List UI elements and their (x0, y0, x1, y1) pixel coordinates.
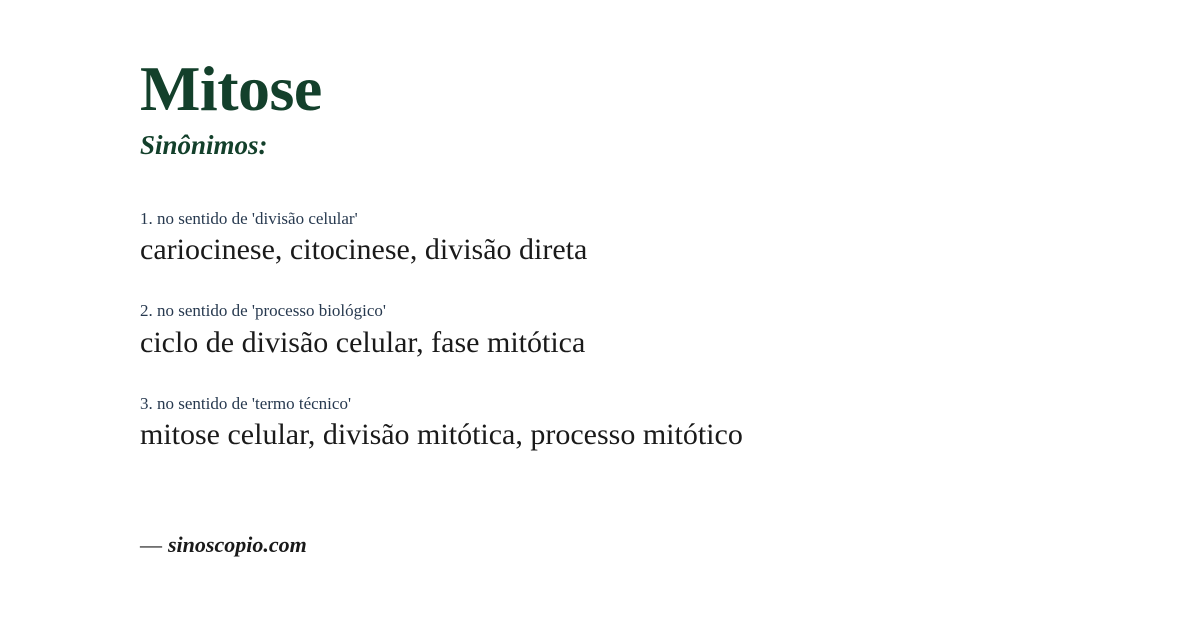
sense-label: 2. no sentido de 'processo biológico' (140, 300, 1060, 321)
sense-synonyms: ciclo de divisão celular, fase mitótica (140, 324, 1060, 362)
card-header: Mitose Sinônimos: (140, 56, 1060, 162)
source-name: sinoscopio.com (168, 532, 307, 557)
card-footer: —sinoscopio.com (140, 532, 307, 558)
synonym-card: Mitose Sinônimos: 1. no sentido de 'divi… (0, 0, 1200, 628)
sense-synonyms: mitose celular, divisão mitótica, proces… (140, 416, 1060, 454)
em-dash-glyph: — (140, 532, 168, 557)
list-item: 1. no sentido de 'divisão celular' cario… (140, 208, 1060, 270)
list-item: 2. no sentido de 'processo biológico' ci… (140, 300, 1060, 362)
sense-list: 1. no sentido de 'divisão celular' cario… (140, 208, 1060, 455)
sense-synonyms: cariocinese, citocinese, divisão direta (140, 231, 1060, 269)
sense-label: 3. no sentido de 'termo técnico' (140, 393, 1060, 414)
list-item: 3. no sentido de 'termo técnico' mitose … (140, 393, 1060, 455)
page-title: Mitose (140, 56, 1060, 121)
attribution: —sinoscopio.com (140, 532, 307, 558)
synonyms-heading: Sinônimos: (140, 129, 1060, 161)
sense-label: 1. no sentido de 'divisão celular' (140, 208, 1060, 229)
